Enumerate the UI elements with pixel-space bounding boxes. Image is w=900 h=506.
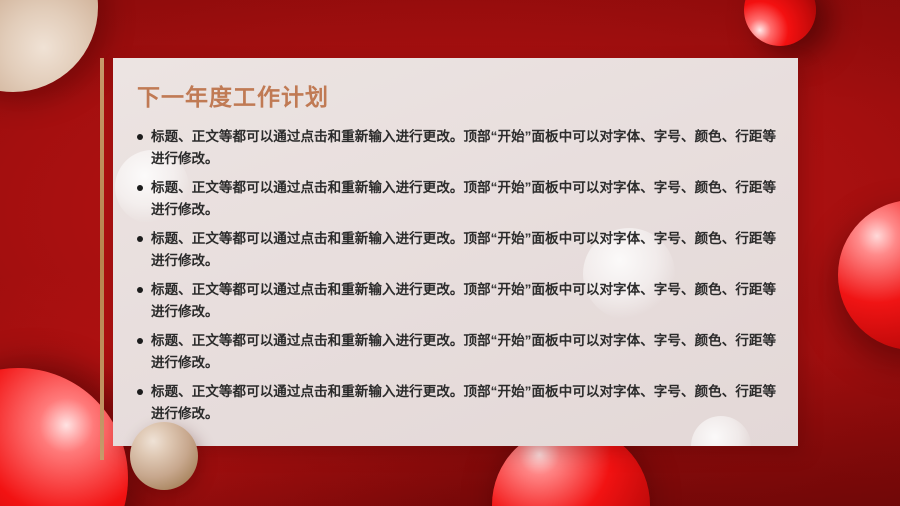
bullet-list: 标题、正文等都可以通过点击和重新输入进行更改。顶部“开始”面板中可以对字体、字号… bbox=[137, 126, 776, 425]
list-item: 标题、正文等都可以通过点击和重新输入进行更改。顶部“开始”面板中可以对字体、字号… bbox=[137, 279, 776, 323]
list-item: 标题、正文等都可以通过点击和重新输入进行更改。顶部“开始”面板中可以对字体、字号… bbox=[137, 177, 776, 221]
gold-accent-line bbox=[100, 58, 104, 460]
content-panel: 下一年度工作计划 标题、正文等都可以通过点击和重新输入进行更改。顶部“开始”面板… bbox=[113, 58, 798, 446]
decorative-sphere-tan-bottom bbox=[130, 422, 198, 490]
list-item: 标题、正文等都可以通过点击和重新输入进行更改。顶部“开始”面板中可以对字体、字号… bbox=[137, 126, 776, 170]
slide-canvas: 下一年度工作计划 标题、正文等都可以通过点击和重新输入进行更改。顶部“开始”面板… bbox=[0, 0, 900, 506]
page-title: 下一年度工作计划 bbox=[137, 84, 776, 112]
list-item: 标题、正文等都可以通过点击和重新输入进行更改。顶部“开始”面板中可以对字体、字号… bbox=[137, 330, 776, 374]
panel-content: 下一年度工作计划 标题、正文等都可以通过点击和重新输入进行更改。顶部“开始”面板… bbox=[113, 58, 798, 425]
list-item: 标题、正文等都可以通过点击和重新输入进行更改。顶部“开始”面板中可以对字体、字号… bbox=[137, 381, 776, 425]
list-item: 标题、正文等都可以通过点击和重新输入进行更改。顶部“开始”面板中可以对字体、字号… bbox=[137, 228, 776, 272]
